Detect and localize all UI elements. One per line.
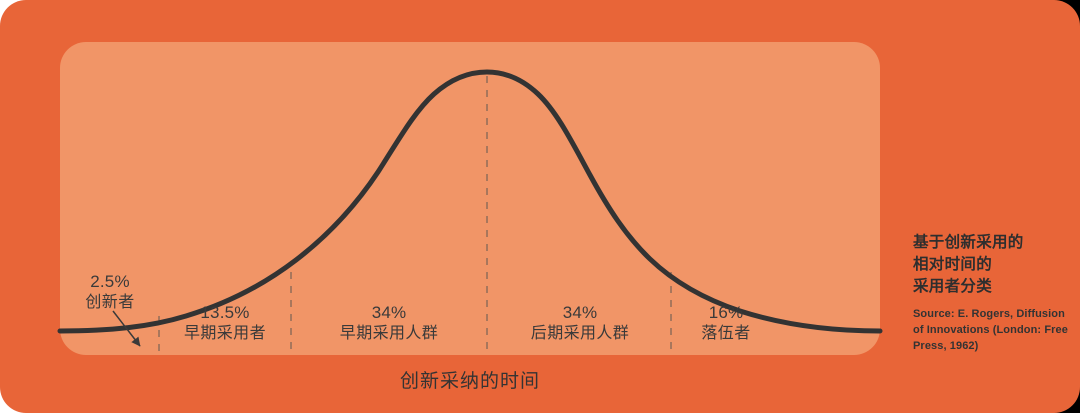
outer-card: 2.5% 创新者 13.5% 早期采用者 34% 早期采用人群 34% 后期采用… <box>0 0 1080 413</box>
segment-pct-laggards: 16% <box>672 303 780 324</box>
segment-name-late-majority: 后期采用人群 <box>499 324 661 344</box>
segment-name-early-adopters: 早期采用者 <box>165 324 285 344</box>
segment-label-late-majority: 34% 后期采用人群 <box>499 303 661 343</box>
side-heading-line-2: 相对时间的 <box>913 254 1073 276</box>
segment-name-early-majority: 早期采用人群 <box>308 324 470 344</box>
segment-label-innovators: 2.5% 创新者 <box>62 272 158 312</box>
segment-pct-innovators: 2.5% <box>62 272 158 293</box>
bell-curve-path <box>60 72 880 331</box>
segment-pct-late-majority: 34% <box>499 303 661 324</box>
segment-name-laggards: 落伍者 <box>672 324 780 344</box>
infographic-root: 2.5% 创新者 13.5% 早期采用者 34% 早期采用人群 34% 后期采用… <box>0 0 1080 413</box>
side-heading: 基于创新采用的 相对时间的 采用者分类 <box>913 232 1073 298</box>
segment-label-early-majority: 34% 早期采用人群 <box>308 303 470 343</box>
side-heading-line-1: 基于创新采用的 <box>913 232 1073 254</box>
side-source-line-2: of Innovations (London: Free <box>913 323 1073 339</box>
side-source-line-3: Press, 1962) <box>913 339 1073 355</box>
x-axis-title: 创新采纳的时间 <box>0 366 940 393</box>
side-source-line-1: Source: E. Rogers, Diffusion <box>913 307 1073 323</box>
segment-name-innovators: 创新者 <box>62 293 158 313</box>
side-source: Source: E. Rogers, Diffusion of Innovati… <box>913 307 1073 355</box>
segment-pct-early-majority: 34% <box>308 303 470 324</box>
segment-label-early-adopters: 13.5% 早期采用者 <box>165 303 285 343</box>
side-text-block: 基于创新采用的 相对时间的 采用者分类 Source: E. Rogers, D… <box>913 232 1073 355</box>
side-heading-line-3: 采用者分类 <box>913 276 1073 298</box>
segment-pct-early-adopters: 13.5% <box>165 303 285 324</box>
segment-label-laggards: 16% 落伍者 <box>672 303 780 343</box>
